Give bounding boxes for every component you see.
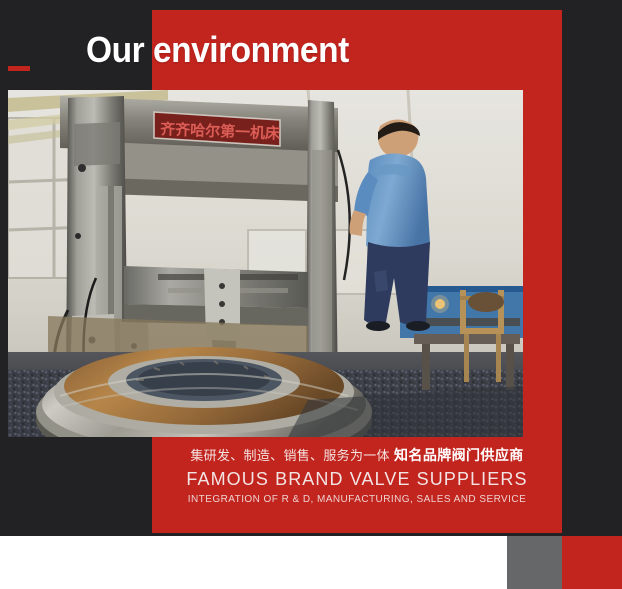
- caption-chinese-strong: 知名品牌阀门供应商: [394, 448, 524, 464]
- gray-decor-square: [507, 536, 562, 589]
- factory-photo-illustration: 齐齐哈尔第一机床: [8, 90, 523, 437]
- red-dash-accent: [8, 66, 30, 71]
- caption-chinese-line: 集研发、制造、销售、服务为一体 知名品牌阀门供应商: [152, 446, 562, 467]
- factory-photo: 齐齐哈尔第一机床: [8, 90, 523, 437]
- our-environment-section: Our environment: [0, 0, 622, 589]
- caption-chinese-thin: 集研发、制造、销售、服务为一体: [190, 449, 390, 464]
- caption-english-subline: INTEGRATION OF R & D, MANUFACTURING, SAL…: [152, 493, 562, 507]
- caption-block: 集研发、制造、销售、服务为一体 知名品牌阀门供应商 FAMOUS BRAND V…: [152, 446, 562, 507]
- page-title: Our environment: [86, 28, 477, 72]
- bottom-white-strip: [0, 536, 507, 589]
- red-decor-square: [562, 536, 622, 589]
- caption-english-headline: FAMOUS BRAND VALVE SUPPLIERS: [152, 468, 562, 490]
